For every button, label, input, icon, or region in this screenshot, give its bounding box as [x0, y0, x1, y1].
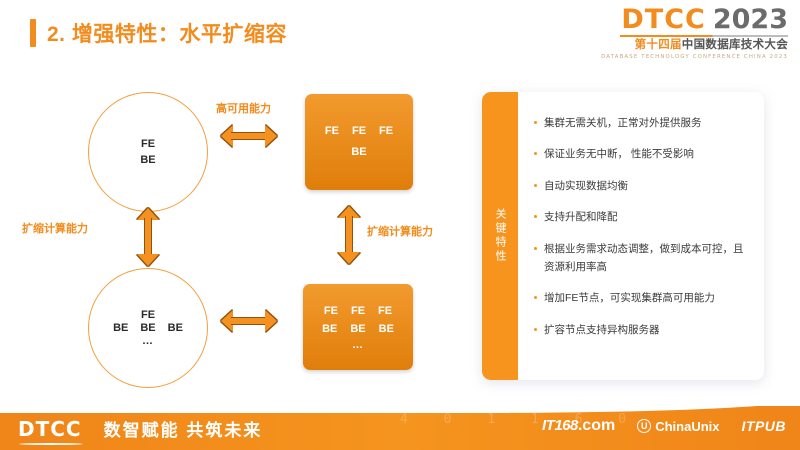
footer-bar: 4 0 1 1 6 0 DTCC 数智赋能 共筑未来 IT168 .com U … — [0, 406, 800, 450]
list-item-text: 保证业务无中断， 性能不受影响 — [544, 145, 694, 163]
list-item: 根据业务需求动态调整，做到成本可控，且资源利用率高 — [534, 240, 750, 277]
bullet-dot-icon — [534, 121, 537, 124]
arrow-head-down-icon — [338, 252, 360, 264]
list-item-text: 集群无需关机，正常对外提供服务 — [544, 114, 702, 132]
partner-itpub-text: ITPUB — [742, 418, 787, 434]
arrow-shaft — [144, 218, 152, 256]
arrow-shaft — [345, 216, 353, 254]
list-item: 集群无需关机，正常对外提供服务 — [534, 114, 750, 132]
arrow-shaft — [231, 132, 267, 140]
list-item: 支持升配和降配 — [534, 208, 750, 226]
circle-bottom-row-be: BE BE BE — [113, 322, 183, 335]
list-item: 保证业务无中断， 性能不受影响 — [534, 145, 750, 163]
label-scale-compute-left: 扩缩计算能力 — [22, 220, 88, 236]
partner-it168-text: IT168 — [542, 417, 578, 434]
list-item-text: 自动实现数据均衡 — [544, 177, 628, 195]
logo-subtitle-en: DATABASE TECHNOLOGY CONFERENCE CHINA 202… — [601, 55, 788, 60]
arrow-head-right-icon — [265, 125, 277, 147]
node-label-fe: FE — [378, 303, 392, 321]
node-label-fe: FE — [325, 121, 339, 142]
node-label-fe: FE — [324, 303, 338, 321]
footer-partner-logos: IT168 .com U ChinaUnix ITPUB — [542, 417, 786, 435]
title-accent-bar — [30, 19, 36, 47]
ellipsis-indicator: … — [142, 335, 154, 347]
list-item-text: 支持升配和降配 — [544, 208, 618, 226]
key-features-tab: 关键特性 — [482, 92, 518, 380]
node-label-be: BE — [351, 142, 366, 163]
box-top-row-fe: FE FE FE — [325, 121, 393, 142]
node-label-fe: FE — [141, 309, 155, 322]
partner-logo-it168: IT168 .com — [542, 417, 615, 435]
bullet-dot-icon — [534, 215, 537, 218]
logo-subtitle-name: 中国数据库技术大会 — [682, 39, 788, 51]
label-scale-compute-right: 扩缩计算能力 — [367, 223, 433, 239]
partner-chinaunix-text: ChinaUnix — [655, 419, 719, 434]
arrow-head-right-icon — [265, 310, 277, 332]
box-bottom-row-fe: FE FE FE — [324, 303, 392, 321]
arrow-bidirectional-vertical-right — [338, 206, 360, 264]
logo-subtitle-edition: 第十四届 — [635, 39, 682, 51]
list-item-text: 扩容节点支持异构服务器 — [544, 321, 660, 339]
box-top-row-be: BE — [351, 142, 366, 163]
node-label-fe: FE — [352, 121, 366, 142]
logo-year: 2023 — [713, 6, 788, 33]
architecture-diagram: FE BE FE BE BE BE … FE FE FE B — [0, 78, 470, 378]
node-label-fe: FE — [351, 303, 365, 321]
partner-logo-itpub: ITPUB — [742, 418, 787, 434]
slide-root: 2. 增强特性：水平扩缩容 DTCC 2023 第十四届中国数据库技术大会 DA… — [0, 0, 800, 450]
cluster-box-ha: FE FE FE BE — [305, 94, 413, 190]
arrow-head-down-icon — [137, 254, 159, 266]
arrow-bidirectional-horizontal-top — [221, 125, 277, 147]
node-label-be: BE — [322, 321, 337, 339]
bullet-dot-icon — [534, 296, 537, 299]
node-label-be: BE — [168, 322, 183, 335]
logo-underline — [620, 35, 788, 37]
partner-logo-chinaunix: U ChinaUnix — [637, 419, 719, 434]
cluster-box-scaled: FE FE FE BE BE BE … — [303, 284, 413, 370]
key-features-list: 集群无需关机，正常对外提供服务 保证业务无中断， 性能不受影响 自动实现数据均衡… — [518, 92, 764, 380]
arrow-bidirectional-horizontal-bottom — [221, 310, 277, 332]
list-item-text: 增加FE节点，可实现集群高可用能力 — [544, 289, 715, 307]
footer-logo-dtcc: DTCC — [18, 417, 82, 441]
list-item-text: 根据业务需求动态调整，做到成本可控，且资源利用率高 — [544, 240, 750, 277]
node-label-be: BE — [350, 321, 365, 339]
node-label-be: BE — [379, 321, 394, 339]
node-circle-before-scaleout: FE BE — [88, 92, 208, 212]
key-features-card: 关键特性 集群无需关机，正常对外提供服务 保证业务无中断， 性能不受影响 自动实… — [482, 92, 764, 380]
node-label-be: BE — [113, 322, 128, 335]
bullet-dot-icon — [534, 184, 537, 187]
title-text: 2. 增强特性：水平扩缩容 — [47, 18, 287, 48]
circle-bottom-row-fe: FE — [141, 309, 155, 322]
bullet-dot-icon — [534, 328, 537, 331]
list-item: 自动实现数据均衡 — [534, 177, 750, 195]
list-item: 增加FE节点，可实现集群高可用能力 — [534, 289, 750, 307]
bullet-dot-icon — [534, 247, 537, 250]
circle-top-row-fe: FE — [141, 136, 155, 153]
node-label-fe: FE — [379, 121, 393, 142]
arrow-shaft — [231, 317, 267, 325]
list-item: 扩容节点支持异构服务器 — [534, 321, 750, 339]
logo-brand: DTCC — [621, 6, 705, 33]
node-label-be: BE — [140, 152, 155, 169]
bullet-dot-icon — [534, 152, 537, 155]
dtcc-logo: DTCC 2023 第十四届中国数据库技术大会 DATABASE TECHNOL… — [601, 6, 788, 60]
page-title: 2. 增强特性：水平扩缩容 — [30, 18, 287, 48]
ellipsis-indicator: … — [352, 339, 364, 351]
key-features-tab-label: 关键特性 — [492, 208, 508, 264]
node-label-be: BE — [140, 322, 155, 335]
footer-brand: DTCC 数智赋能 共筑未来 — [18, 416, 262, 441]
node-circle-after-scaleout: FE BE BE BE … — [88, 268, 208, 388]
node-label-fe: FE — [141, 136, 155, 153]
footer-slogan: 数智赋能 共筑未来 — [104, 416, 263, 441]
chinaunix-mark-icon: U — [637, 419, 651, 433]
circle-top-row-be: BE — [140, 152, 155, 169]
partner-it168-suffix: .com — [578, 417, 615, 435]
box-bottom-row-be: BE BE BE — [322, 321, 394, 339]
arrow-bidirectional-vertical-left — [137, 208, 159, 266]
label-high-availability: 高可用能力 — [216, 100, 271, 116]
